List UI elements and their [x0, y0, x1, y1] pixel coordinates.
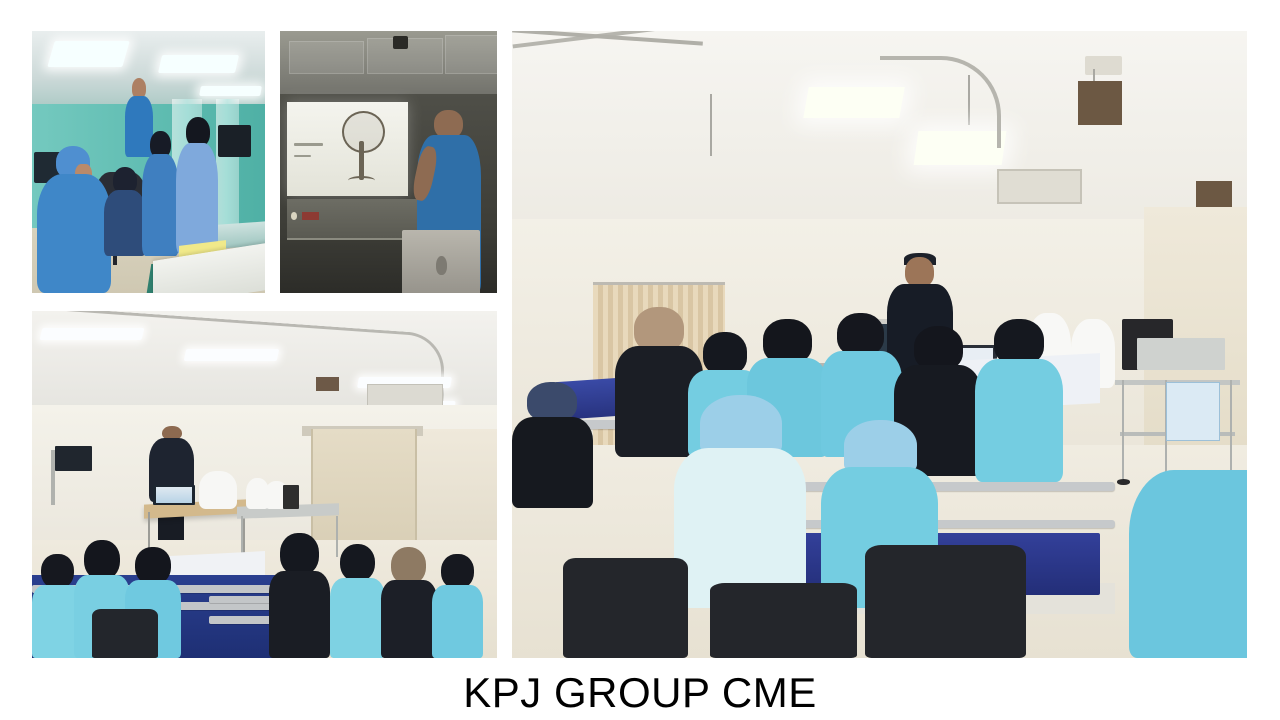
ceiling-light: [184, 349, 280, 361]
hijab: [703, 332, 747, 375]
air-conditioning-vent: [997, 169, 1082, 204]
photo-right-large-scene: [512, 31, 1247, 658]
surgical-cap: [700, 395, 782, 455]
surgical-cap: [844, 420, 917, 473]
person-audience: [269, 533, 329, 658]
ceiling-light: [199, 86, 261, 96]
torso: [142, 154, 179, 256]
white-plastic-bag: [199, 471, 236, 509]
photo-right-large[interactable]: Hospital ward CME session; instructor in…: [512, 31, 1247, 658]
person-right-edge: [1129, 470, 1247, 658]
person-audience-front-left: [512, 382, 593, 507]
ceiling-light: [40, 328, 145, 340]
tree-canopy: [342, 111, 385, 153]
dark-uniform: [512, 417, 593, 507]
hijab: [441, 554, 474, 589]
slide-text-line: [294, 155, 311, 158]
wall-monitor: [55, 446, 92, 470]
office-chair: [563, 558, 688, 658]
hijab: [41, 554, 74, 589]
person-audience: [381, 547, 437, 658]
hijab: [84, 540, 120, 580]
person-audience: [330, 544, 386, 659]
head: [905, 257, 934, 287]
hijab: [340, 544, 376, 583]
ward-sign: [1078, 81, 1122, 125]
trolley-leg: [1230, 380, 1232, 479]
person-bending: [104, 167, 146, 256]
red-marker: [302, 212, 319, 220]
scrubs: [432, 585, 483, 658]
medical-device: [1137, 338, 1225, 369]
tree-trunk: [359, 141, 364, 181]
hijab: [280, 533, 319, 575]
ceiling-tile: [289, 41, 365, 74]
person-seated-foreground: [37, 146, 112, 293]
ceiling-sensor: [1085, 56, 1122, 75]
ceiling-light: [158, 55, 239, 73]
person-standing-left: [142, 131, 179, 257]
laptop-logo-icon: [436, 256, 447, 274]
instruction-poster: [1166, 382, 1219, 440]
black-cup: [283, 485, 299, 509]
wall-sign: [316, 377, 339, 391]
scrubs: [975, 359, 1063, 483]
hijab: [391, 547, 427, 585]
patterned-cap: [527, 382, 577, 422]
torso: [176, 143, 218, 253]
ceiling: [280, 31, 497, 99]
hijab: [837, 313, 884, 356]
wall-monitor: [218, 125, 251, 156]
slide-text-line: [294, 143, 323, 146]
projection-screen: [287, 102, 409, 196]
hijab: [763, 319, 812, 363]
dark-uniform: [381, 580, 437, 658]
trolley-caster: [1117, 479, 1129, 485]
laptop-screen: [156, 487, 192, 503]
photo-bottom-left[interactable]: Wide view of hospital ward training sess…: [32, 311, 497, 658]
photo-top-middle-scene: [280, 31, 497, 293]
torso: [104, 190, 146, 256]
air-vent: [367, 384, 443, 407]
person-standing-right: [176, 117, 218, 253]
person-audience: [975, 319, 1063, 482]
trolley-leg: [1122, 380, 1124, 479]
corridor: [413, 429, 497, 554]
scrubs-arm: [1129, 470, 1247, 658]
hijab: [135, 547, 171, 585]
track-hanger: [710, 94, 712, 157]
ceiling-tile: [445, 35, 497, 74]
ceiling-light: [47, 41, 129, 67]
photo-top-left-scene: [32, 31, 265, 293]
person-front-center: [674, 395, 806, 608]
slide-canvas: Clinical training room with teal green w…: [0, 0, 1280, 720]
dark-uniform: [269, 571, 329, 658]
photo-top-middle[interactable]: Dimly lit lecture room; projected slide …: [280, 31, 497, 293]
photo-top-left[interactable]: Clinical training room with teal green w…: [32, 31, 265, 293]
slide-caption: KPJ GROUP CME: [0, 666, 1280, 720]
tree-diagram: [338, 111, 387, 185]
torso: [37, 174, 112, 293]
projector-mount: [393, 36, 408, 49]
office-chair: [710, 583, 857, 658]
office-chair: [92, 609, 157, 658]
board-marker-light: [291, 212, 298, 220]
photo-bottom-left-scene: [32, 311, 497, 658]
scrubs: [330, 578, 386, 658]
person-audience: [432, 554, 483, 658]
office-chair: [865, 545, 1027, 658]
tree-roots: [348, 176, 375, 185]
